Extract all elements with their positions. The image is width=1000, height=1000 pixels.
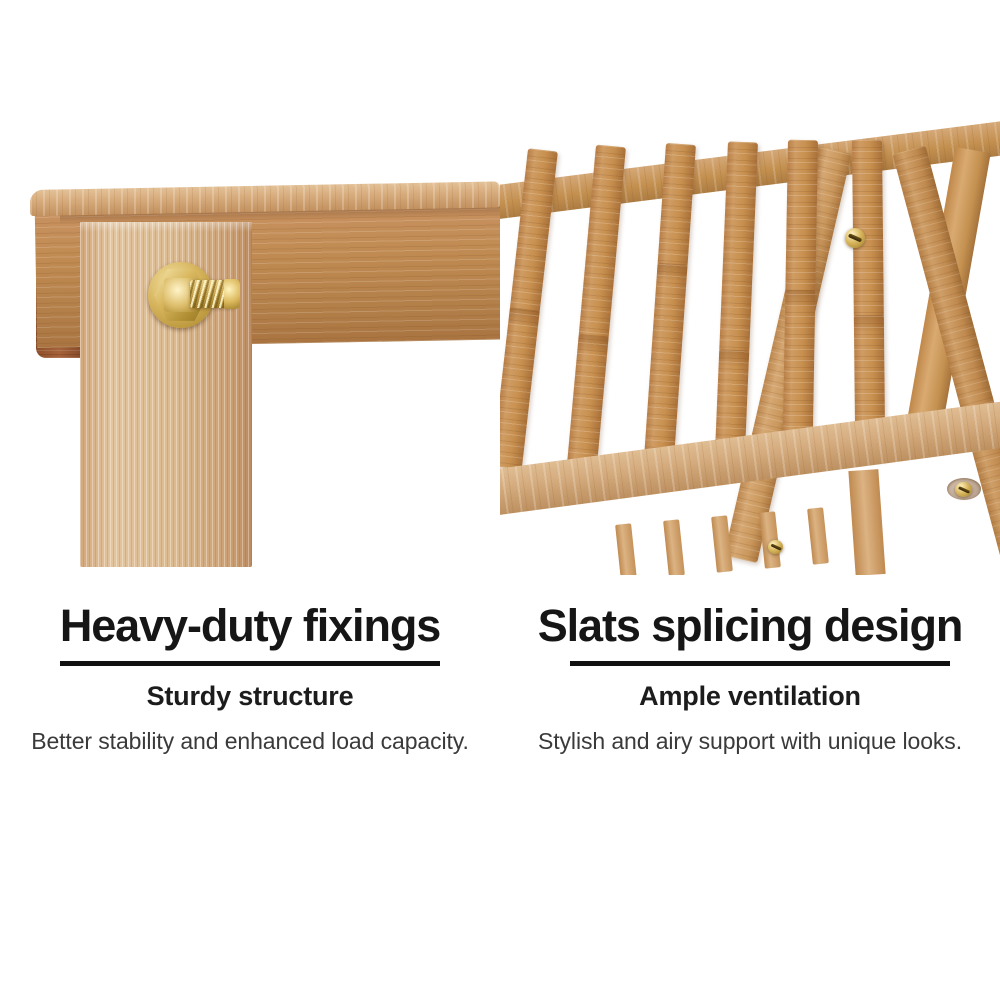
photo-slats-splicing-design — [500, 0, 1000, 575]
screw-icon — [768, 540, 783, 554]
lower-tier-post — [848, 469, 885, 575]
panel-description: Better stability and enhanced load capac… — [0, 725, 500, 758]
screw-icon — [845, 228, 865, 248]
photo-heavy-duty-fixings — [0, 0, 500, 575]
caption-band: Heavy-duty fixings Sturdy structure Bett… — [0, 575, 1000, 1000]
panel-title: Slats splicing design — [500, 597, 1000, 655]
infographic-page: Heavy-duty fixings Sturdy structure Bett… — [0, 0, 1000, 1000]
lower-tier-slat — [807, 507, 829, 564]
screw-icon — [955, 482, 972, 497]
product-photo-band — [0, 0, 1000, 575]
title-underline — [570, 661, 950, 666]
panel-title: Heavy-duty fixings — [0, 597, 500, 655]
bolt-tip — [224, 279, 240, 309]
panel-description: Stylish and airy support with unique loo… — [500, 725, 1000, 758]
panel-subtitle: Ample ventilation — [500, 677, 1000, 715]
slat — [852, 140, 885, 460]
lower-tier-slat — [663, 519, 685, 575]
lower-tier-slat — [711, 515, 733, 572]
panel-subtitle: Sturdy structure — [0, 677, 500, 715]
vertical-leg-highlight — [80, 222, 252, 232]
slat — [782, 140, 818, 460]
title-underline — [60, 661, 440, 666]
hex-flange-nut-assembly — [146, 248, 242, 340]
lower-tier-slat — [615, 523, 637, 575]
